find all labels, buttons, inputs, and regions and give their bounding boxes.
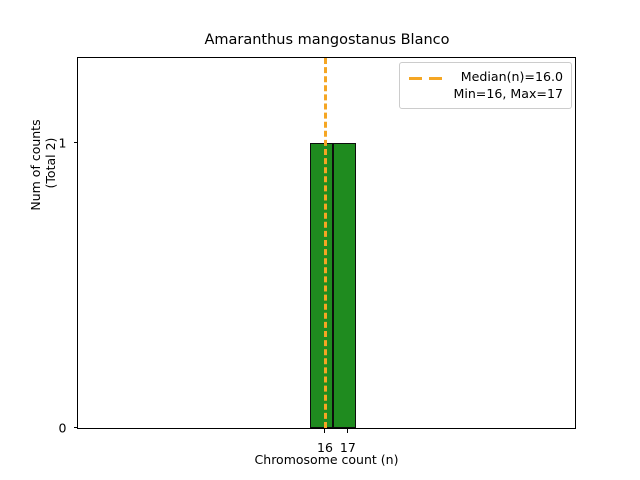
- bar-17[interactable]: [333, 143, 356, 428]
- median-line: [324, 58, 327, 428]
- ytick-mark-1: 1: [74, 142, 79, 143]
- legend-label-median: Median(n)=16.0: [453, 68, 563, 85]
- legend-label: Median(n)=16.0 Min=16, Max=17: [453, 68, 563, 102]
- ytick-mark-0: 0: [74, 427, 79, 428]
- y-axis-label-line1: Num of counts: [28, 119, 43, 210]
- legend-dashed-line-icon: [408, 69, 445, 86]
- chart-title: Amaranthus mangostanus Blanco: [77, 32, 577, 48]
- x-axis-label: Chromosome count (n): [77, 452, 576, 467]
- chart-figure: Amaranthus mangostanus Blanco 0 1 16 17: [0, 0, 640, 480]
- xtick-mark-17: 17: [347, 428, 348, 433]
- xtick-mark-16: 16: [324, 428, 325, 433]
- y-axis-label: Num of counts (Total 2): [28, 55, 58, 275]
- chart-legend[interactable]: Median(n)=16.0 Min=16, Max=17: [399, 62, 572, 109]
- plot-canvas: [78, 58, 575, 428]
- ytick-label-1: 1: [59, 136, 67, 151]
- bar-16[interactable]: [310, 143, 333, 428]
- y-axis-label-line2: (Total 2): [43, 138, 58, 193]
- legend-label-minmax: Min=16, Max=17: [453, 85, 563, 102]
- plot-area: 0 1 16 17 Median(n)=16.0 Min=16, Max=17: [77, 57, 576, 429]
- ytick-label-0: 0: [59, 421, 67, 436]
